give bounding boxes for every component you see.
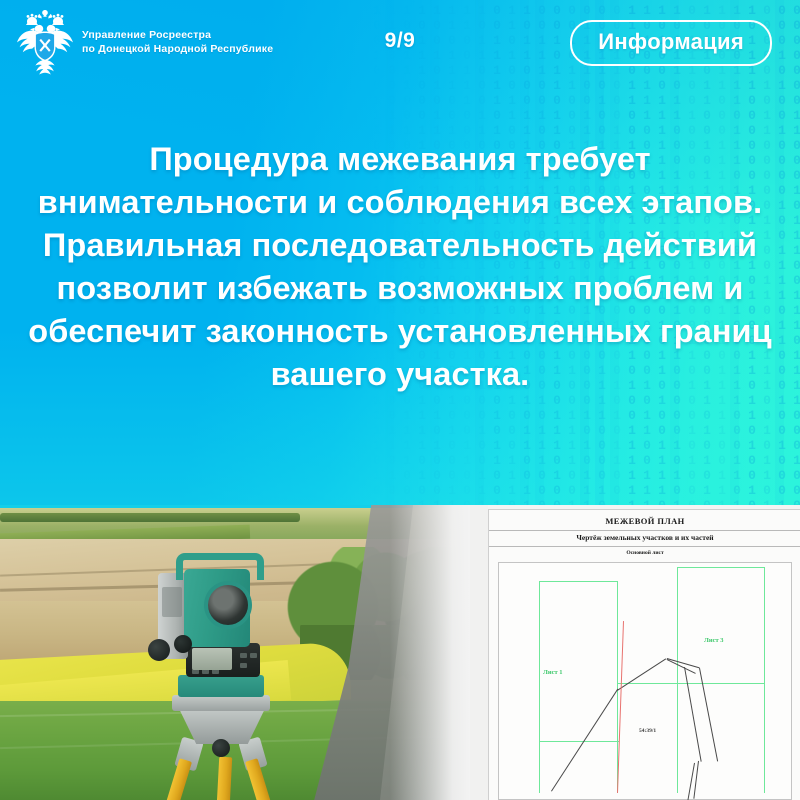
carry-handle (176, 553, 264, 580)
parcel-line-green-h2 (677, 567, 765, 568)
tripod-screw (212, 739, 230, 757)
headline-text: Процедура межевания требует внимательнос… (24, 138, 776, 396)
telescope-lens (208, 585, 248, 625)
instrument-left-panel (162, 587, 182, 617)
plan-label-sheet3: Лист 3 (704, 637, 724, 644)
document-sheet-label: Основной лист (489, 546, 800, 561)
instrument-base (178, 675, 264, 697)
plan-drawing-frame: Лист 1 Лист 3 54:39/1 (498, 562, 792, 800)
header-bar: Управление Росреестра по Донецкой Народн… (0, 0, 800, 90)
bottom-media-strip: МЕЖЕВОЙ ПЛАН Чертёж земельных участков и… (0, 505, 800, 800)
document-subtitle: Чертёж земельных участков и их частей (489, 530, 800, 547)
boundary-line-5 (684, 667, 702, 762)
survey-plan-document: МЕЖЕВОЙ ПЛАН Чертёж земельных участков и… (470, 505, 800, 800)
boundary-line-2 (617, 658, 666, 691)
tripod-leg-center (217, 757, 232, 800)
theodolite-instrument (150, 553, 300, 800)
poster-canvas: 0 1 0 0 1 0 0 1 1 1 0 1 1 1 1 0 1 1 0 1 … (0, 0, 800, 800)
parcel-line-green-v1 (539, 581, 540, 793)
tangent-knob-right (174, 635, 192, 653)
hedgerow (0, 513, 300, 522)
tangent-knob-left (148, 639, 170, 661)
parcel-line-green-h1 (539, 581, 618, 582)
base-plate (172, 695, 270, 711)
parcel-line-green-v4 (764, 567, 765, 793)
tripod-leg-right (245, 758, 272, 800)
tripod-leg-left (165, 758, 192, 800)
field-photo (0, 505, 470, 800)
lcd-screen (192, 648, 232, 670)
document-sheet: МЕЖЕВОЙ ПЛАН Чертёж земельных участков и… (488, 509, 800, 800)
information-badge[interactable]: Информация (570, 20, 772, 66)
parcel-line-green-h3 (617, 683, 765, 684)
photo-edge-fade (390, 505, 470, 800)
parcel-line-green-h4 (539, 741, 619, 742)
document-title: МЕЖЕВОЙ ПЛАН (489, 513, 800, 531)
document-left-margin (470, 505, 488, 800)
plan-label-sheet1: Лист 1 (543, 669, 563, 676)
parcel-line-green-v3 (677, 567, 678, 793)
plan-label-parcel: 54:39/1 (639, 728, 656, 734)
